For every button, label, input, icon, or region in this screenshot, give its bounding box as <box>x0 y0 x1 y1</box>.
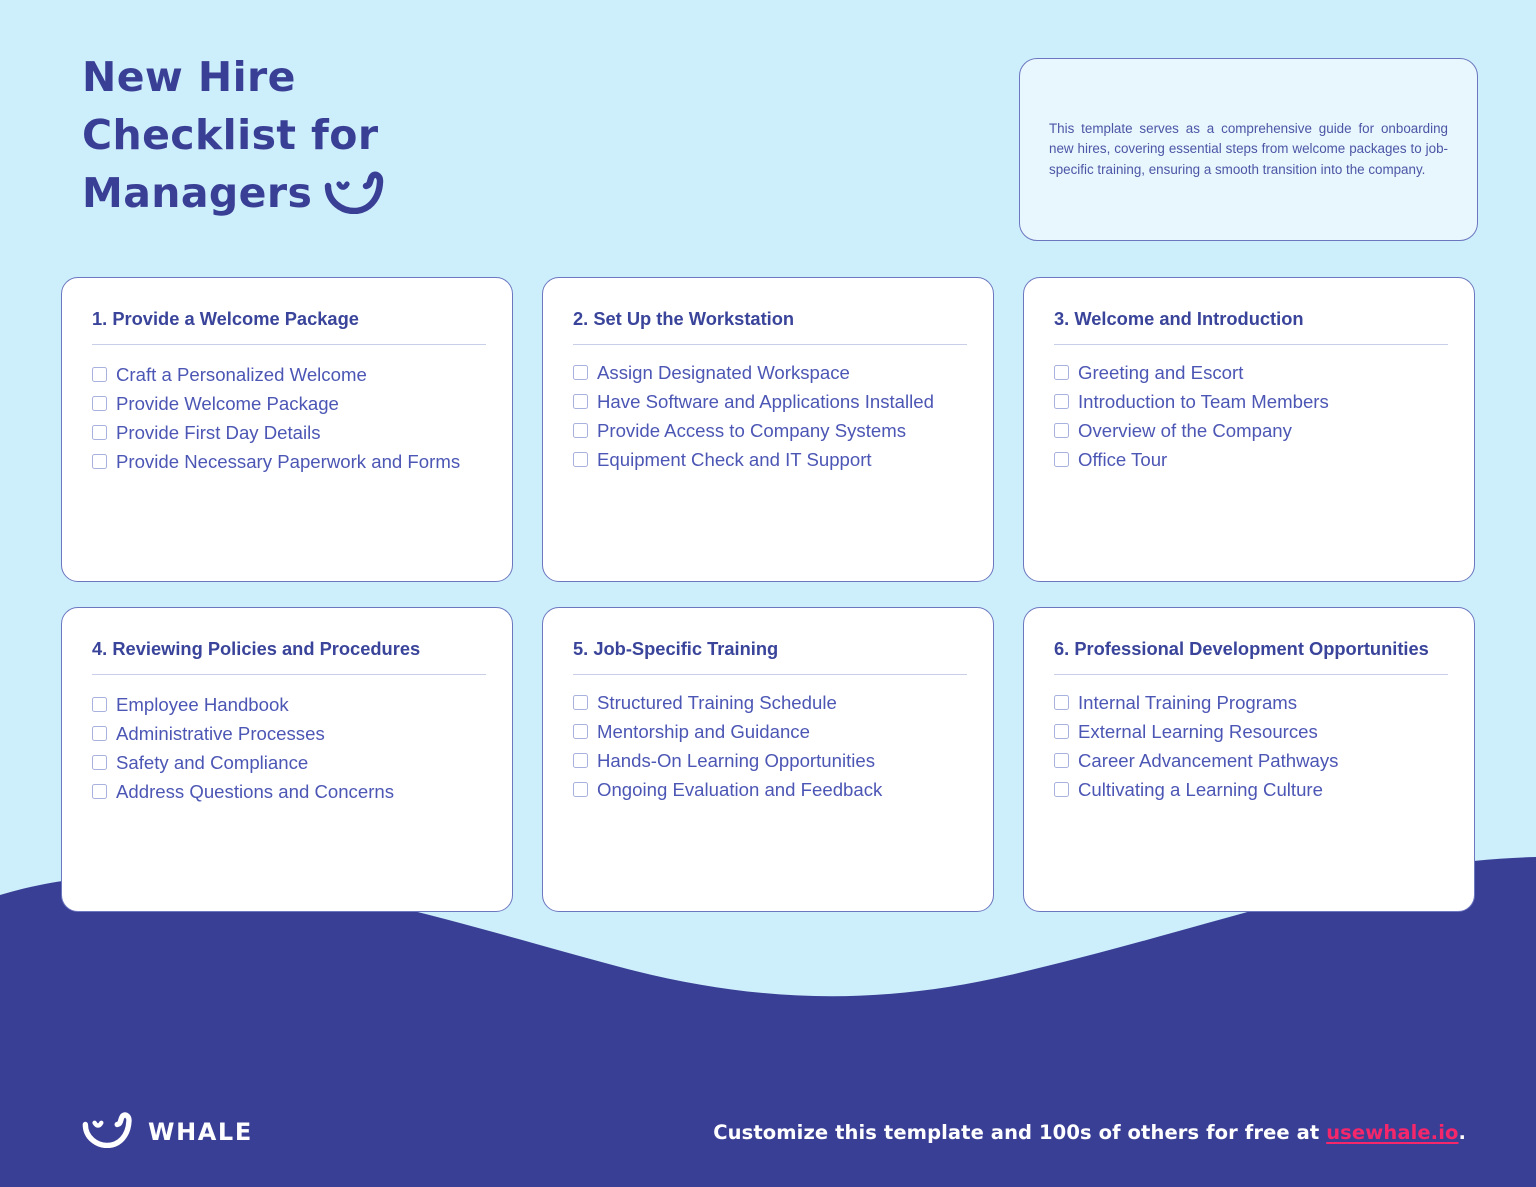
checklist-item[interactable]: Equipment Check and IT Support <box>573 445 967 474</box>
checkbox-icon[interactable] <box>92 425 107 440</box>
checkbox-icon[interactable] <box>573 423 588 438</box>
checklist-item-label: Provide Welcome Package <box>116 389 486 418</box>
card-4-items: Employee Handbook Administrative Process… <box>92 690 486 806</box>
checklist-item[interactable]: Employee Handbook <box>92 690 486 719</box>
card-5-divider <box>573 674 967 675</box>
checkbox-icon[interactable] <box>1054 695 1069 710</box>
checklist-card-3: 3. Welcome and Introduction Greeting and… <box>1023 277 1475 582</box>
checkbox-icon[interactable] <box>1054 753 1069 768</box>
checklist-item-label: Mentorship and Guidance <box>597 717 967 746</box>
checklist-item[interactable]: Address Questions and Concerns <box>92 777 486 806</box>
checklist-item-label: Equipment Check and IT Support <box>597 445 967 474</box>
checklist-item-label: Provide First Day Details <box>116 418 486 447</box>
card-4-divider <box>92 674 486 675</box>
checklist-item-label: Greeting and Escort <box>1078 358 1448 387</box>
checkbox-icon[interactable] <box>573 365 588 380</box>
checklist-item[interactable]: Ongoing Evaluation and Feedback <box>573 775 967 804</box>
card-2-divider <box>573 344 967 345</box>
checklist-item[interactable]: Greeting and Escort <box>1054 358 1448 387</box>
footer-cta: Customize this template and 100s of othe… <box>713 1121 1466 1144</box>
usewhale-link[interactable]: usewhale.io <box>1326 1121 1458 1144</box>
checklist-item[interactable]: Internal Training Programs <box>1054 688 1448 717</box>
checklist-item[interactable]: Introduction to Team Members <box>1054 387 1448 416</box>
checklist-item-label: Ongoing Evaluation and Feedback <box>597 775 967 804</box>
checklist-item-label: Craft a Personalized Welcome <box>116 360 486 389</box>
checklist-item[interactable]: Structured Training Schedule <box>573 688 967 717</box>
card-3-divider <box>1054 344 1448 345</box>
checklist-item[interactable]: Safety and Compliance <box>92 748 486 777</box>
checkbox-icon[interactable] <box>573 753 588 768</box>
checklist-item-label: Administrative Processes <box>116 719 486 748</box>
checklist-item-label: Assign Designated Workspace <box>597 358 967 387</box>
checklist-card-2: 2. Set Up the Workstation Assign Designa… <box>542 277 994 582</box>
checklist-item-label: Address Questions and Concerns <box>116 777 486 806</box>
card-6-items: Internal Training Programs External Lear… <box>1054 688 1448 804</box>
checklist-item[interactable]: Provide Welcome Package <box>92 389 486 418</box>
footer-cta-suffix: . <box>1458 1121 1466 1144</box>
checkbox-icon[interactable] <box>92 726 107 741</box>
checkbox-icon[interactable] <box>92 367 107 382</box>
checklist-item[interactable]: Office Tour <box>1054 445 1448 474</box>
checklist-card-6: 6. Professional Development Opportunitie… <box>1023 607 1475 912</box>
checklist-item-label: Cultivating a Learning Culture <box>1078 775 1448 804</box>
footer-cta-prefix: Customize this template and 100s of othe… <box>713 1121 1326 1144</box>
checklist-item[interactable]: Assign Designated Workspace <box>573 358 967 387</box>
checkbox-icon[interactable] <box>573 695 588 710</box>
checklist-item[interactable]: Administrative Processes <box>92 719 486 748</box>
checkbox-icon[interactable] <box>92 396 107 411</box>
checklist-item[interactable]: Provide First Day Details <box>92 418 486 447</box>
page-footer: WHALE Customize this template and 100s o… <box>0 1077 1536 1187</box>
page-title: New Hire Checklist for Managers <box>82 48 602 229</box>
checklist-card-4: 4. Reviewing Policies and Procedures Emp… <box>61 607 513 912</box>
checklist-item[interactable]: Have Software and Applications Installed <box>573 387 967 416</box>
checkbox-icon[interactable] <box>573 724 588 739</box>
checklist-item[interactable]: Provide Access to Company Systems <box>573 416 967 445</box>
checklist-item-label: Provide Necessary Paperwork and Forms <box>116 447 486 476</box>
checkbox-icon[interactable] <box>1054 782 1069 797</box>
checklist-item[interactable]: External Learning Resources <box>1054 717 1448 746</box>
checklist-item-label: Overview of the Company <box>1078 416 1448 445</box>
brand-name: WHALE <box>148 1118 253 1146</box>
checkbox-icon[interactable] <box>1054 423 1069 438</box>
checklist-item-label: Safety and Compliance <box>116 748 486 777</box>
checklist-item[interactable]: Provide Necessary Paperwork and Forms <box>92 447 486 476</box>
checkbox-icon[interactable] <box>1054 724 1069 739</box>
checklist-item-label: Employee Handbook <box>116 690 486 719</box>
checklist-item-label: Provide Access to Company Systems <box>597 416 967 445</box>
checklist-item-label: Structured Training Schedule <box>597 688 967 717</box>
whale-smile-icon <box>82 1111 134 1153</box>
checkbox-icon[interactable] <box>92 454 107 469</box>
brand-logo: WHALE <box>82 1111 253 1153</box>
checklist-item[interactable]: Overview of the Company <box>1054 416 1448 445</box>
checklist-item[interactable]: Cultivating a Learning Culture <box>1054 775 1448 804</box>
card-5-items: Structured Training Schedule Mentorship … <box>573 688 967 804</box>
checkbox-icon[interactable] <box>92 755 107 770</box>
card-1-heading: 1. Provide a Welcome Package <box>92 304 486 334</box>
checkbox-icon[interactable] <box>1054 394 1069 409</box>
card-6-divider <box>1054 674 1448 675</box>
card-3-items: Greeting and Escort Introduction to Team… <box>1054 358 1448 474</box>
checkbox-icon[interactable] <box>1054 365 1069 380</box>
whale-smile-icon <box>324 170 386 229</box>
checklist-item-label: Internal Training Programs <box>1078 688 1448 717</box>
checklist-card-5: 5. Job-Specific Training Structured Trai… <box>542 607 994 912</box>
card-5-heading: 5. Job-Specific Training <box>573 634 967 664</box>
checkbox-icon[interactable] <box>573 452 588 467</box>
checklist-item-label: Hands-On Learning Opportunities <box>597 746 967 775</box>
card-2-items: Assign Designated Workspace Have Softwar… <box>573 358 967 474</box>
checklist-item-label: Career Advancement Pathways <box>1078 746 1448 775</box>
checklist-card-1: 1. Provide a Welcome Package Craft a Per… <box>61 277 513 582</box>
checklist-card-grid: 1. Provide a Welcome Package Craft a Per… <box>61 277 1479 912</box>
checkbox-icon[interactable] <box>92 697 107 712</box>
checkbox-icon[interactable] <box>92 784 107 799</box>
checklist-item[interactable]: Mentorship and Guidance <box>573 717 967 746</box>
checkbox-icon[interactable] <box>1054 452 1069 467</box>
page-title-line-2: Checklist for <box>82 106 602 164</box>
checklist-item-label: Introduction to Team Members <box>1078 387 1448 416</box>
checklist-item[interactable]: Craft a Personalized Welcome <box>92 360 486 389</box>
page-title-line-3: Managers <box>82 164 602 229</box>
intro-description-card: This template serves as a comprehensive … <box>1019 58 1478 241</box>
checkbox-icon[interactable] <box>573 782 588 797</box>
page-title-line-3-text: Managers <box>82 169 312 217</box>
card-3-heading: 3. Welcome and Introduction <box>1054 304 1448 334</box>
page-title-line-1: New Hire <box>82 48 602 106</box>
checkbox-icon[interactable] <box>573 394 588 409</box>
card-2-heading: 2. Set Up the Workstation <box>573 304 967 334</box>
checklist-item-label: External Learning Resources <box>1078 717 1448 746</box>
card-1-divider <box>92 344 486 345</box>
card-6-heading: 6. Professional Development Opportunitie… <box>1054 634 1448 664</box>
card-4-heading: 4. Reviewing Policies and Procedures <box>92 634 486 664</box>
card-1-items: Craft a Personalized Welcome Provide Wel… <box>92 360 486 476</box>
checklist-item-label: Office Tour <box>1078 445 1448 474</box>
checklist-item[interactable]: Career Advancement Pathways <box>1054 746 1448 775</box>
checklist-item[interactable]: Hands-On Learning Opportunities <box>573 746 967 775</box>
checklist-item-label: Have Software and Applications Installed <box>597 387 967 416</box>
intro-description-text: This template serves as a comprehensive … <box>1049 119 1448 181</box>
